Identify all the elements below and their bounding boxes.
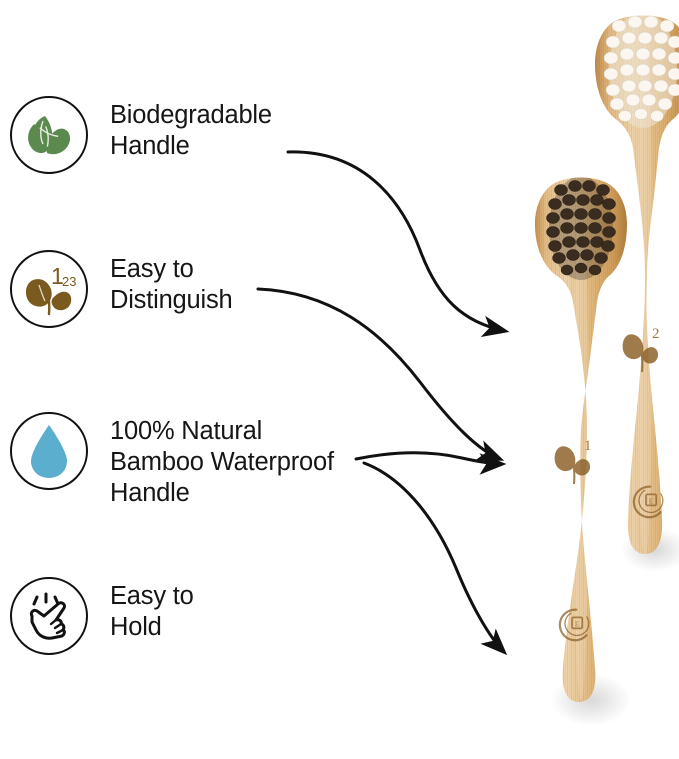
icon-number-twentythree: 23 (62, 274, 76, 289)
feature-easy-to-distinguish: 1 23 Easy to Distinguish (10, 250, 233, 328)
feature-label-waterproof: 100% Natural Bamboo Waterproof Handle (110, 412, 334, 509)
feature-waterproof-handle: 100% Natural Bamboo Waterproof Handle (10, 412, 334, 509)
arrow-easy-hold (364, 463, 504, 652)
feature-label-biodegradable: Biodegradable Handle (110, 96, 272, 162)
water-droplet-icon (10, 412, 88, 490)
product-infographic: 2 E (0, 0, 679, 759)
feature-label-distinguish: Easy to Distinguish (110, 250, 233, 316)
feature-biodegradable-handle: Biodegradable Handle (10, 96, 272, 174)
tap-hand-icon (10, 577, 88, 655)
feature-easy-to-hold: Easy to Hold (10, 577, 194, 655)
numbered-leaf-icon: 1 23 (10, 250, 88, 328)
arrow-biodegradable (288, 152, 505, 331)
arrow-waterproof (356, 453, 502, 464)
feature-label-easy-hold: Easy to Hold (110, 577, 194, 643)
recycling-leaves-icon (10, 96, 88, 174)
